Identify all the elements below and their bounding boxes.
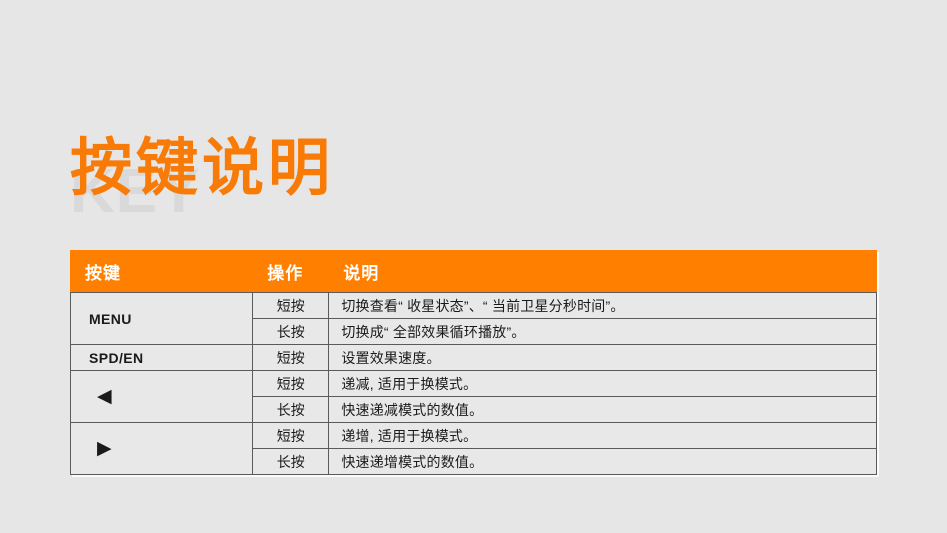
- operation-cell: 长按: [253, 397, 329, 423]
- table-row: ◀短按递减, 适用于换模式。: [71, 371, 877, 397]
- description-cell: 设置效果速度。: [329, 345, 877, 371]
- operation-cell: 短按: [253, 293, 329, 319]
- table-header-row: 按键 操作 说明: [71, 251, 877, 293]
- operation-cell: 长按: [253, 319, 329, 345]
- table-row: SPD/EN短按设置效果速度。: [71, 345, 877, 371]
- description-cell: 切换查看“ 收星状态”、“ 当前卫星分秒时间”。: [329, 293, 877, 319]
- column-header-operation-label: 操作: [253, 264, 303, 283]
- table-row: ▶短按递增, 适用于换模式。: [71, 423, 877, 449]
- column-header-description: 说明: [329, 251, 877, 293]
- operation-cell: 短按: [253, 423, 329, 449]
- key-cell-label: MENU: [71, 293, 253, 345]
- operation-cell: 短按: [253, 345, 329, 371]
- page-title: 按键说明: [70, 134, 334, 202]
- column-header-description-label: 说明: [329, 264, 379, 283]
- table-row: MENU短按切换查看“ 收星状态”、“ 当前卫星分秒时间”。: [71, 293, 877, 319]
- key-description-table: 按键 操作 说明 MENU短按切换查看“ 收星状态”、“ 当前卫星分秒时间”。长…: [70, 250, 877, 475]
- description-cell: 递增, 适用于换模式。: [329, 423, 877, 449]
- table-body: MENU短按切换查看“ 收星状态”、“ 当前卫星分秒时间”。长按切换成“ 全部效…: [71, 293, 877, 475]
- page-header: KEY DESCRIPTION 按键说明: [70, 52, 870, 217]
- column-header-key: 按键: [71, 251, 253, 293]
- key-cell-arrow-icon: ◀: [71, 371, 253, 423]
- key-cell-label: SPD/EN: [71, 345, 253, 371]
- operation-cell: 短按: [253, 371, 329, 397]
- column-header-key-label: 按键: [71, 264, 121, 283]
- description-cell: 递减, 适用于换模式。: [329, 371, 877, 397]
- description-cell: 快速递减模式的数值。: [329, 397, 877, 423]
- description-cell: 切换成“ 全部效果循环播放”。: [329, 319, 877, 345]
- description-cell: 快速递增模式的数值。: [329, 449, 877, 475]
- key-cell-arrow-icon: ▶: [71, 423, 253, 475]
- table-header: 按键 操作 说明: [71, 251, 877, 293]
- operation-cell: 长按: [253, 449, 329, 475]
- column-header-operation: 操作: [253, 251, 329, 293]
